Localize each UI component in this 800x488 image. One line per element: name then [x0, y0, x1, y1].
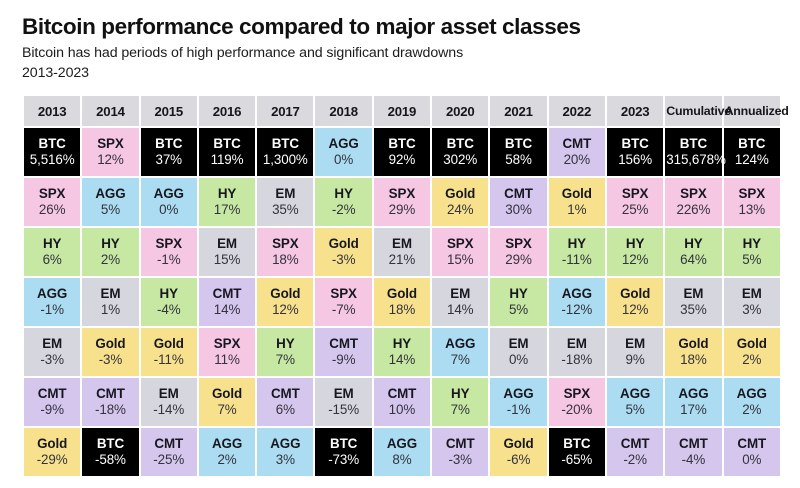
heatmap-cell: EM3%: [724, 278, 780, 326]
heatmap-cell: HY12%: [607, 228, 663, 276]
cell-ticker: EM: [375, 236, 429, 252]
cell-value: 119%: [200, 152, 254, 168]
column-header-2022: 2022: [549, 96, 605, 126]
cell-value: 315,678%: [666, 152, 720, 168]
cell-value: 7%: [433, 352, 487, 368]
table-row: AGG-1%EM1%HY-4%CMT14%Gold12%SPX-7%Gold18…: [24, 278, 780, 326]
cell-ticker: SPX: [725, 186, 779, 202]
cell-ticker: HY: [725, 236, 779, 252]
cell-value: 1%: [83, 302, 137, 318]
cell-ticker: SPX: [491, 236, 545, 252]
cell-ticker: Gold: [725, 336, 779, 352]
cell-value: 18%: [258, 252, 312, 268]
heatmap-cell: HY64%: [665, 228, 721, 276]
cell-value: 35%: [258, 202, 312, 218]
table-row: Gold-29%BTC-58%CMT-25%AGG2%AGG3%BTC-73%A…: [24, 428, 780, 476]
cell-value: 7%: [200, 402, 254, 418]
cell-ticker: EM: [25, 336, 79, 352]
cell-value: 9%: [608, 352, 662, 368]
cell-ticker: AGG: [200, 436, 254, 452]
cell-ticker: BTC: [433, 136, 487, 152]
heatmap-cell: Gold24%: [432, 178, 488, 226]
heatmap-cell: HY-4%: [141, 278, 197, 326]
cell-value: 18%: [666, 352, 720, 368]
cell-ticker: AGG: [258, 436, 312, 452]
cell-ticker: CMT: [550, 136, 604, 152]
heatmap-cell: CMT-9%: [315, 328, 371, 376]
column-header-2021: 2021: [490, 96, 546, 126]
cell-value: 92%: [375, 152, 429, 168]
cell-ticker: CMT: [666, 436, 720, 452]
cell-value: 37%: [142, 152, 196, 168]
heatmap-cell: BTC315,678%: [665, 128, 721, 176]
cell-ticker: SPX: [25, 186, 79, 202]
cell-ticker: AGG: [25, 286, 79, 302]
page-title: Bitcoin performance compared to major as…: [22, 14, 780, 39]
cell-value: -14%: [142, 402, 196, 418]
heatmap-cell: CMT0%: [724, 428, 780, 476]
cell-value: 14%: [375, 352, 429, 368]
cell-value: -20%: [550, 402, 604, 418]
cell-value: -15%: [316, 402, 370, 418]
heatmap-cell: CMT-18%: [82, 378, 138, 426]
cell-value: 26%: [25, 202, 79, 218]
cell-value: 5%: [608, 402, 662, 418]
cell-ticker: Gold: [666, 336, 720, 352]
cell-ticker: AGG: [375, 436, 429, 452]
heatmap-cell: Gold12%: [607, 278, 663, 326]
cell-value: 0%: [491, 352, 545, 368]
cell-ticker: Gold: [375, 286, 429, 302]
heatmap-cell: HY7%: [257, 328, 313, 376]
cell-value: -2%: [316, 202, 370, 218]
heatmap-cell: HY7%: [432, 378, 488, 426]
heatmap-cell: EM-3%: [24, 328, 80, 376]
heatmap-cell: SPX11%: [199, 328, 255, 376]
cell-ticker: BTC: [725, 136, 779, 152]
heatmap-cell: SPX18%: [257, 228, 313, 276]
cell-value: 14%: [433, 302, 487, 318]
cell-value: -9%: [316, 352, 370, 368]
cell-ticker: HY: [83, 236, 137, 252]
heatmap-cell: BTC-58%: [82, 428, 138, 476]
cell-value: 29%: [375, 202, 429, 218]
heatmap-cell: Gold18%: [374, 278, 430, 326]
heatmap-cell: Gold-29%: [24, 428, 80, 476]
cell-ticker: HY: [375, 336, 429, 352]
cell-ticker: CMT: [25, 386, 79, 402]
cell-ticker: AGG: [725, 386, 779, 402]
heatmap-cell: HY-2%: [315, 178, 371, 226]
heatmap-cell: CMT10%: [374, 378, 430, 426]
cell-value: -3%: [433, 452, 487, 468]
heatmap-cell: CMT6%: [257, 378, 313, 426]
cell-ticker: CMT: [258, 386, 312, 402]
cell-value: 15%: [433, 252, 487, 268]
heatmap-cell: HY17%: [199, 178, 255, 226]
cell-value: 0%: [725, 452, 779, 468]
cell-ticker: Gold: [25, 436, 79, 452]
cell-ticker: SPX: [316, 286, 370, 302]
cell-ticker: BTC: [200, 136, 254, 152]
heatmap-cell: AGG0%: [315, 128, 371, 176]
cell-value: 30%: [491, 202, 545, 218]
cell-ticker: HY: [433, 386, 487, 402]
heatmap-cell: AGG-12%: [549, 278, 605, 326]
cell-value: 7%: [258, 352, 312, 368]
cell-value: 2%: [83, 252, 137, 268]
heatmap-cell: AGG0%: [141, 178, 197, 226]
heatmap-cell: AGG2%: [199, 428, 255, 476]
cell-ticker: EM: [550, 336, 604, 352]
cell-value: 29%: [491, 252, 545, 268]
heatmap-cell: CMT-2%: [607, 428, 663, 476]
cell-ticker: BTC: [258, 136, 312, 152]
cell-ticker: CMT: [83, 386, 137, 402]
heatmap-cell: AGG-1%: [24, 278, 80, 326]
cell-value: -12%: [550, 302, 604, 318]
cell-ticker: EM: [491, 336, 545, 352]
heatmap-cell: BTC124%: [724, 128, 780, 176]
column-header-2018: 2018: [315, 96, 371, 126]
cell-value: 17%: [666, 402, 720, 418]
cell-ticker: EM: [258, 186, 312, 202]
cell-value: 2%: [725, 402, 779, 418]
heatmap-cell: Gold12%: [257, 278, 313, 326]
heatmap-cell: SPX-1%: [141, 228, 197, 276]
heatmap-cell: Gold-6%: [490, 428, 546, 476]
heatmap-cell: AGG7%: [432, 328, 488, 376]
cell-ticker: HY: [200, 186, 254, 202]
heatmap-cell: AGG3%: [257, 428, 313, 476]
cell-value: -1%: [491, 402, 545, 418]
column-header-2016: 2016: [199, 96, 255, 126]
cell-ticker: BTC: [375, 136, 429, 152]
heatmap-cell: EM15%: [199, 228, 255, 276]
returns-heatmap-table: 2013201420152016201720182019202020212022…: [22, 94, 782, 478]
cell-value: 5%: [725, 252, 779, 268]
cell-ticker: CMT: [491, 186, 545, 202]
heatmap-cell: BTC58%: [490, 128, 546, 176]
cell-value: -73%: [316, 452, 370, 468]
cell-ticker: HY: [666, 236, 720, 252]
cell-ticker: BTC: [491, 136, 545, 152]
cell-ticker: Gold: [608, 286, 662, 302]
heatmap-cell: BTC-73%: [315, 428, 371, 476]
cell-value: 124%: [725, 152, 779, 168]
heatmap-cell: EM-14%: [141, 378, 197, 426]
heatmap-cell: CMT20%: [549, 128, 605, 176]
heatmap-cell: AGG5%: [607, 378, 663, 426]
table-row: SPX26%AGG5%AGG0%HY17%EM35%HY-2%SPX29%Gol…: [24, 178, 780, 226]
cell-ticker: AGG: [316, 136, 370, 152]
cell-value: -2%: [608, 452, 662, 468]
heatmap-cell: BTC92%: [374, 128, 430, 176]
heatmap-cell: Gold-3%: [82, 328, 138, 376]
cell-value: 3%: [725, 302, 779, 318]
heatmap-cell: EM35%: [257, 178, 313, 226]
cell-value: 14%: [200, 302, 254, 318]
heatmap-cell: SPX25%: [607, 178, 663, 226]
cell-ticker: CMT: [608, 436, 662, 452]
cell-ticker: BTC: [550, 436, 604, 452]
cell-ticker: SPX: [375, 186, 429, 202]
cell-ticker: EM: [200, 236, 254, 252]
cell-ticker: AGG: [83, 186, 137, 202]
table-row: CMT-9%CMT-18%EM-14%Gold7%CMT6%EM-15%CMT1…: [24, 378, 780, 426]
cell-value: 1,300%: [258, 152, 312, 168]
cell-ticker: SPX: [200, 336, 254, 352]
cell-value: -58%: [83, 452, 137, 468]
cell-value: -3%: [316, 252, 370, 268]
cell-value: 12%: [608, 302, 662, 318]
cell-value: 25%: [608, 202, 662, 218]
heatmap-cell: CMT30%: [490, 178, 546, 226]
heatmap-cell: EM0%: [490, 328, 546, 376]
cell-value: 20%: [550, 152, 604, 168]
cell-value: -6%: [491, 452, 545, 468]
cell-value: 302%: [433, 152, 487, 168]
heatmap-cell: SPX29%: [374, 178, 430, 226]
cell-ticker: AGG: [433, 336, 487, 352]
cell-ticker: Gold: [83, 336, 137, 352]
column-header-2015: 2015: [141, 96, 197, 126]
cell-ticker: BTC: [316, 436, 370, 452]
cell-ticker: HY: [491, 286, 545, 302]
heatmap-cell: CMT-9%: [24, 378, 80, 426]
cell-ticker: EM: [83, 286, 137, 302]
cell-value: -29%: [25, 452, 79, 468]
cell-value: -1%: [142, 252, 196, 268]
heatmap-cell: Gold18%: [665, 328, 721, 376]
cell-ticker: HY: [25, 236, 79, 252]
heatmap-cell: EM21%: [374, 228, 430, 276]
cell-ticker: SPX: [550, 386, 604, 402]
cell-ticker: SPX: [83, 136, 137, 152]
cell-value: -7%: [316, 302, 370, 318]
column-header-2023: 2023: [607, 96, 663, 126]
column-header-2020: 2020: [432, 96, 488, 126]
cell-value: 12%: [83, 152, 137, 168]
cell-value: 11%: [200, 352, 254, 368]
cell-ticker: AGG: [608, 386, 662, 402]
cell-ticker: EM: [433, 286, 487, 302]
cell-ticker: BTC: [142, 136, 196, 152]
cell-ticker: CMT: [375, 386, 429, 402]
cell-ticker: CMT: [316, 336, 370, 352]
column-header-cumulative: Cumulative: [665, 96, 721, 126]
cell-ticker: HY: [550, 236, 604, 252]
cell-ticker: SPX: [433, 236, 487, 252]
cell-value: 2%: [725, 352, 779, 368]
cell-value: -65%: [550, 452, 604, 468]
cell-value: 13%: [725, 202, 779, 218]
cell-value: 18%: [375, 302, 429, 318]
heatmap-cell: SPX15%: [432, 228, 488, 276]
cell-value: 0%: [316, 152, 370, 168]
cell-value: 7%: [433, 402, 487, 418]
heatmap-cell: EM-15%: [315, 378, 371, 426]
heatmap-cell: SPX26%: [24, 178, 80, 226]
cell-value: 5%: [491, 302, 545, 318]
heatmap-cell: BTC5,516%: [24, 128, 80, 176]
heatmap-cell: SPX-20%: [549, 378, 605, 426]
cell-value: 2%: [200, 452, 254, 468]
heatmap-cell: HY6%: [24, 228, 80, 276]
heatmap-cell: Gold7%: [199, 378, 255, 426]
heatmap-cell: CMT-3%: [432, 428, 488, 476]
heatmap-cell: BTC302%: [432, 128, 488, 176]
heatmap-cell: EM9%: [607, 328, 663, 376]
cell-ticker: SPX: [142, 236, 196, 252]
heatmap-cell: SPX13%: [724, 178, 780, 226]
column-header-annualized: Annualized: [724, 96, 780, 126]
cell-value: -4%: [142, 302, 196, 318]
cell-value: -3%: [83, 352, 137, 368]
cell-ticker: AGG: [142, 186, 196, 202]
table-row: HY6%HY2%SPX-1%EM15%SPX18%Gold-3%EM21%SPX…: [24, 228, 780, 276]
heatmap-cell: AGG5%: [82, 178, 138, 226]
cell-value: 5%: [83, 202, 137, 218]
heatmap-cell: AGG8%: [374, 428, 430, 476]
cell-ticker: EM: [725, 286, 779, 302]
heatmap-cell: Gold2%: [724, 328, 780, 376]
cell-ticker: CMT: [142, 436, 196, 452]
cell-ticker: HY: [142, 286, 196, 302]
column-header-2019: 2019: [374, 96, 430, 126]
cell-ticker: CMT: [200, 286, 254, 302]
cell-ticker: Gold: [433, 186, 487, 202]
cell-ticker: EM: [608, 336, 662, 352]
cell-ticker: HY: [316, 186, 370, 202]
heatmap-cell: HY-11%: [549, 228, 605, 276]
cell-value: -25%: [142, 452, 196, 468]
cell-value: -9%: [25, 402, 79, 418]
cell-ticker: CMT: [725, 436, 779, 452]
cell-ticker: EM: [142, 386, 196, 402]
heatmap-cell: AGG17%: [665, 378, 721, 426]
cell-value: 156%: [608, 152, 662, 168]
cell-ticker: SPX: [608, 186, 662, 202]
column-header-2014: 2014: [82, 96, 138, 126]
table-row: BTC5,516%SPX12%BTC37%BTC119%BTC1,300%AGG…: [24, 128, 780, 176]
cell-value: 64%: [666, 252, 720, 268]
heatmap-cell: CMT-4%: [665, 428, 721, 476]
cell-ticker: Gold: [316, 236, 370, 252]
cell-value: 58%: [491, 152, 545, 168]
heatmap-cell: BTC37%: [141, 128, 197, 176]
heatmap-cell: EM-18%: [549, 328, 605, 376]
heatmap-cell: CMT-25%: [141, 428, 197, 476]
cell-ticker: AGG: [550, 286, 604, 302]
cell-ticker: BTC: [25, 136, 79, 152]
heatmap-cell: HY14%: [374, 328, 430, 376]
cell-value: -18%: [550, 352, 604, 368]
cell-value: 226%: [666, 202, 720, 218]
cell-ticker: Gold: [550, 186, 604, 202]
cell-ticker: Gold: [142, 336, 196, 352]
cell-value: 12%: [608, 252, 662, 268]
cell-value: -11%: [142, 352, 196, 368]
cell-value: 0%: [142, 202, 196, 218]
column-header-2017: 2017: [257, 96, 313, 126]
cell-value: 24%: [433, 202, 487, 218]
periodic-table-of-returns-page: Bitcoin performance compared to major as…: [0, 0, 800, 488]
heatmap-cell: BTC156%: [607, 128, 663, 176]
cell-value: 8%: [375, 452, 429, 468]
heatmap-cell: SPX29%: [490, 228, 546, 276]
cell-ticker: HY: [258, 336, 312, 352]
page-subtitle: Bitcoin has had periods of high performa…: [22, 44, 780, 64]
cell-ticker: BTC: [666, 136, 720, 152]
cell-ticker: Gold: [200, 386, 254, 402]
cell-value: 12%: [258, 302, 312, 318]
cell-value: -18%: [83, 402, 137, 418]
cell-ticker: Gold: [258, 286, 312, 302]
heatmap-cell: HY5%: [724, 228, 780, 276]
cell-value: 35%: [666, 302, 720, 318]
table-header-row: 2013201420152016201720182019202020212022…: [24, 96, 780, 126]
heatmap-cell: SPX226%: [665, 178, 721, 226]
table-row: EM-3%Gold-3%Gold-11%SPX11%HY7%CMT-9%HY14…: [24, 328, 780, 376]
page-subtitle-date-range: 2013-2023: [22, 64, 780, 84]
cell-ticker: AGG: [666, 386, 720, 402]
column-header-2013: 2013: [24, 96, 80, 126]
heatmap-cell: EM1%: [82, 278, 138, 326]
cell-ticker: BTC: [608, 136, 662, 152]
cell-ticker: SPX: [258, 236, 312, 252]
cell-value: 6%: [258, 402, 312, 418]
heatmap-cell: HY5%: [490, 278, 546, 326]
heatmap-cell: BTC-65%: [549, 428, 605, 476]
cell-ticker: AGG: [491, 386, 545, 402]
heatmap-cell: SPX12%: [82, 128, 138, 176]
cell-value: 3%: [258, 452, 312, 468]
cell-ticker: SPX: [666, 186, 720, 202]
heatmap-cell: HY2%: [82, 228, 138, 276]
cell-value: -4%: [666, 452, 720, 468]
cell-value: 6%: [25, 252, 79, 268]
heatmap-cell: AGG2%: [724, 378, 780, 426]
heatmap-cell: BTC119%: [199, 128, 255, 176]
heatmap-cell: AGG-1%: [490, 378, 546, 426]
cell-value: 1%: [550, 202, 604, 218]
cell-value: 5,516%: [25, 152, 79, 168]
heatmap-cell: Gold1%: [549, 178, 605, 226]
cell-value: 10%: [375, 402, 429, 418]
heatmap-cell: EM35%: [665, 278, 721, 326]
table-body: BTC5,516%SPX12%BTC37%BTC119%BTC1,300%AGG…: [24, 128, 780, 476]
heatmap-cell: EM14%: [432, 278, 488, 326]
heatmap-cell: CMT14%: [199, 278, 255, 326]
cell-ticker: EM: [316, 386, 370, 402]
cell-value: -11%: [550, 252, 604, 268]
heatmap-cell: BTC1,300%: [257, 128, 313, 176]
cell-value: 15%: [200, 252, 254, 268]
cell-ticker: Gold: [491, 436, 545, 452]
cell-ticker: HY: [608, 236, 662, 252]
cell-value: -1%: [25, 302, 79, 318]
heatmap-cell: SPX-7%: [315, 278, 371, 326]
cell-ticker: EM: [666, 286, 720, 302]
heatmap-cell: Gold-3%: [315, 228, 371, 276]
cell-ticker: BTC: [83, 436, 137, 452]
heatmap-cell: Gold-11%: [141, 328, 197, 376]
cell-value: 21%: [375, 252, 429, 268]
table-header: 2013201420152016201720182019202020212022…: [24, 96, 780, 126]
cell-value: -3%: [25, 352, 79, 368]
cell-value: 17%: [200, 202, 254, 218]
